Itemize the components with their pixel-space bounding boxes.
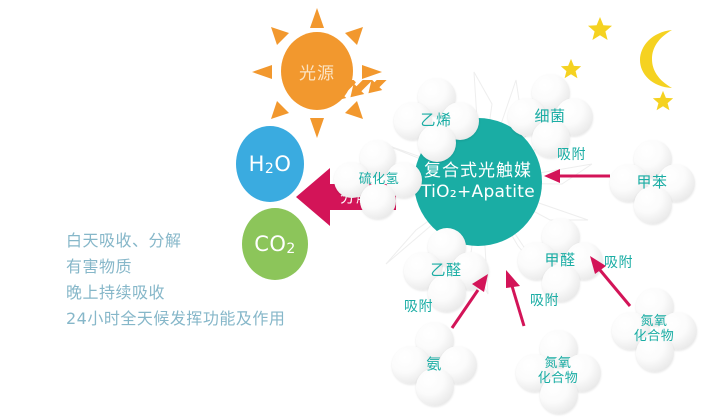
cluster-label: 乙醛 xyxy=(404,228,488,312)
molecule-cluster-ammonia: 氨 xyxy=(392,322,476,406)
core-title-en: TiO₂+Apatite xyxy=(421,182,535,203)
cluster-label: 氮氧 化合物 xyxy=(612,288,696,372)
molecule-cluster-h2s: 硫化氢 xyxy=(334,140,424,220)
description-line-4: 24小时全天候发挥功能及作用 xyxy=(66,306,356,332)
star-icon xyxy=(652,90,674,116)
cluster-label: 细菌 xyxy=(508,74,592,158)
description-line-1: 白天吸收、分解 xyxy=(66,228,356,254)
molecule-cluster-acetaldehyde: 乙醛 xyxy=(404,228,488,312)
moon-icon xyxy=(630,28,682,90)
molecule-cluster-nox-right: 氮氧 化合物 xyxy=(612,288,696,372)
star-icon xyxy=(587,16,613,46)
cluster-label-line1: 氮氧 xyxy=(640,315,667,330)
description-line-3: 晚上持续吸收 xyxy=(66,280,356,306)
h2o-formula: H2O xyxy=(249,152,292,177)
cluster-label: 硫化氢 xyxy=(334,140,424,220)
cluster-label-line1: 氮氧 xyxy=(544,357,571,372)
description-line-2: 有害物质 xyxy=(66,254,356,280)
adsorb-arrow-right xyxy=(544,168,612,188)
core-title-cn: 复合式光触媒 xyxy=(424,161,532,182)
photocatalyst-infographic: 光源 xyxy=(0,0,720,420)
molecule-cluster-bacteria: 细菌 xyxy=(508,74,592,158)
cluster-label-line2: 化合物 xyxy=(634,330,675,345)
cluster-label: 氨 xyxy=(392,322,476,406)
cluster-label-line2: 化合物 xyxy=(538,372,579,387)
adsorb-label-lower-right: 吸附 xyxy=(604,252,633,272)
molecule-cluster-nox-bottom: 氮氧 化合物 xyxy=(516,330,600,414)
product-h2o: H2O xyxy=(236,126,304,202)
cluster-label: 甲醛 xyxy=(518,218,602,302)
cluster-label: 甲苯 xyxy=(610,140,694,224)
molecule-cluster-toluene: 甲苯 xyxy=(610,140,694,224)
molecule-cluster-formaldehyde: 甲醛 xyxy=(518,218,602,302)
cluster-label: 氮氧 化合物 xyxy=(516,330,600,414)
description-block: 白天吸收、分解 有害物质 晚上持续吸收 24小时全天候发挥功能及作用 xyxy=(66,228,356,332)
